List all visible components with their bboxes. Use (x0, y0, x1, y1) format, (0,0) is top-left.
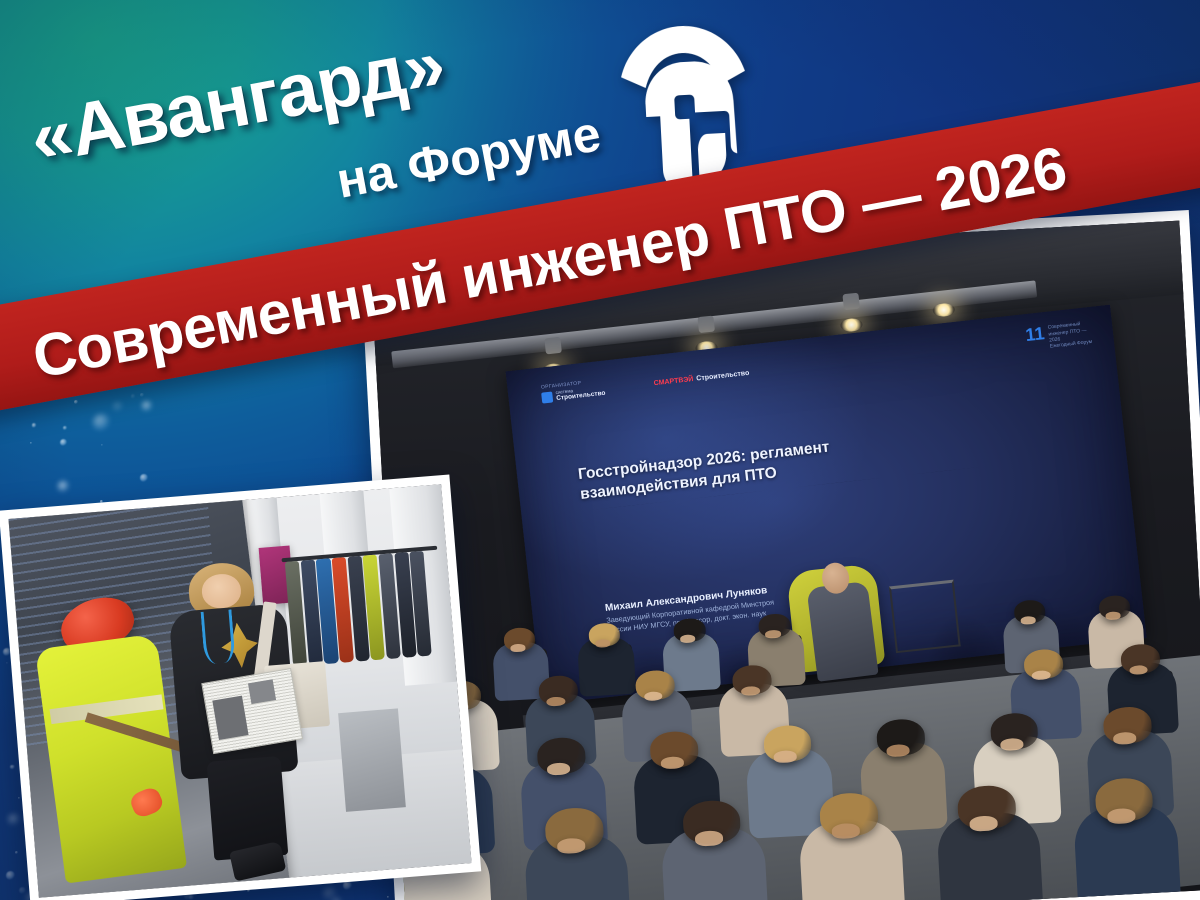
title-block: «Авангард» на Форуме Современный инженер… (0, 0, 1200, 430)
newspaper-photo (213, 696, 249, 740)
audience-person-neck (557, 838, 586, 854)
newspaper-photo (248, 679, 276, 704)
poster-canvas: Зал форума: спикер в жёлтом кресле с мик… (0, 0, 1200, 900)
attendee-lanyard (201, 610, 236, 665)
expo-scene (8, 484, 471, 898)
audience-seating (384, 475, 1200, 900)
audience-person-neck (694, 830, 723, 846)
audience-person-neck (1107, 808, 1136, 824)
attendee-newspaper (202, 668, 304, 754)
brand-subtitle: на Форуме (332, 104, 605, 210)
expo-plinth (338, 709, 406, 812)
audience-person-neck (969, 816, 998, 832)
photo-card-expo: Участница форума с газетой на выставочно… (0, 475, 481, 900)
clothing-rack (282, 546, 447, 672)
photo-expo-image (8, 484, 471, 898)
audience-person-neck (832, 823, 861, 839)
